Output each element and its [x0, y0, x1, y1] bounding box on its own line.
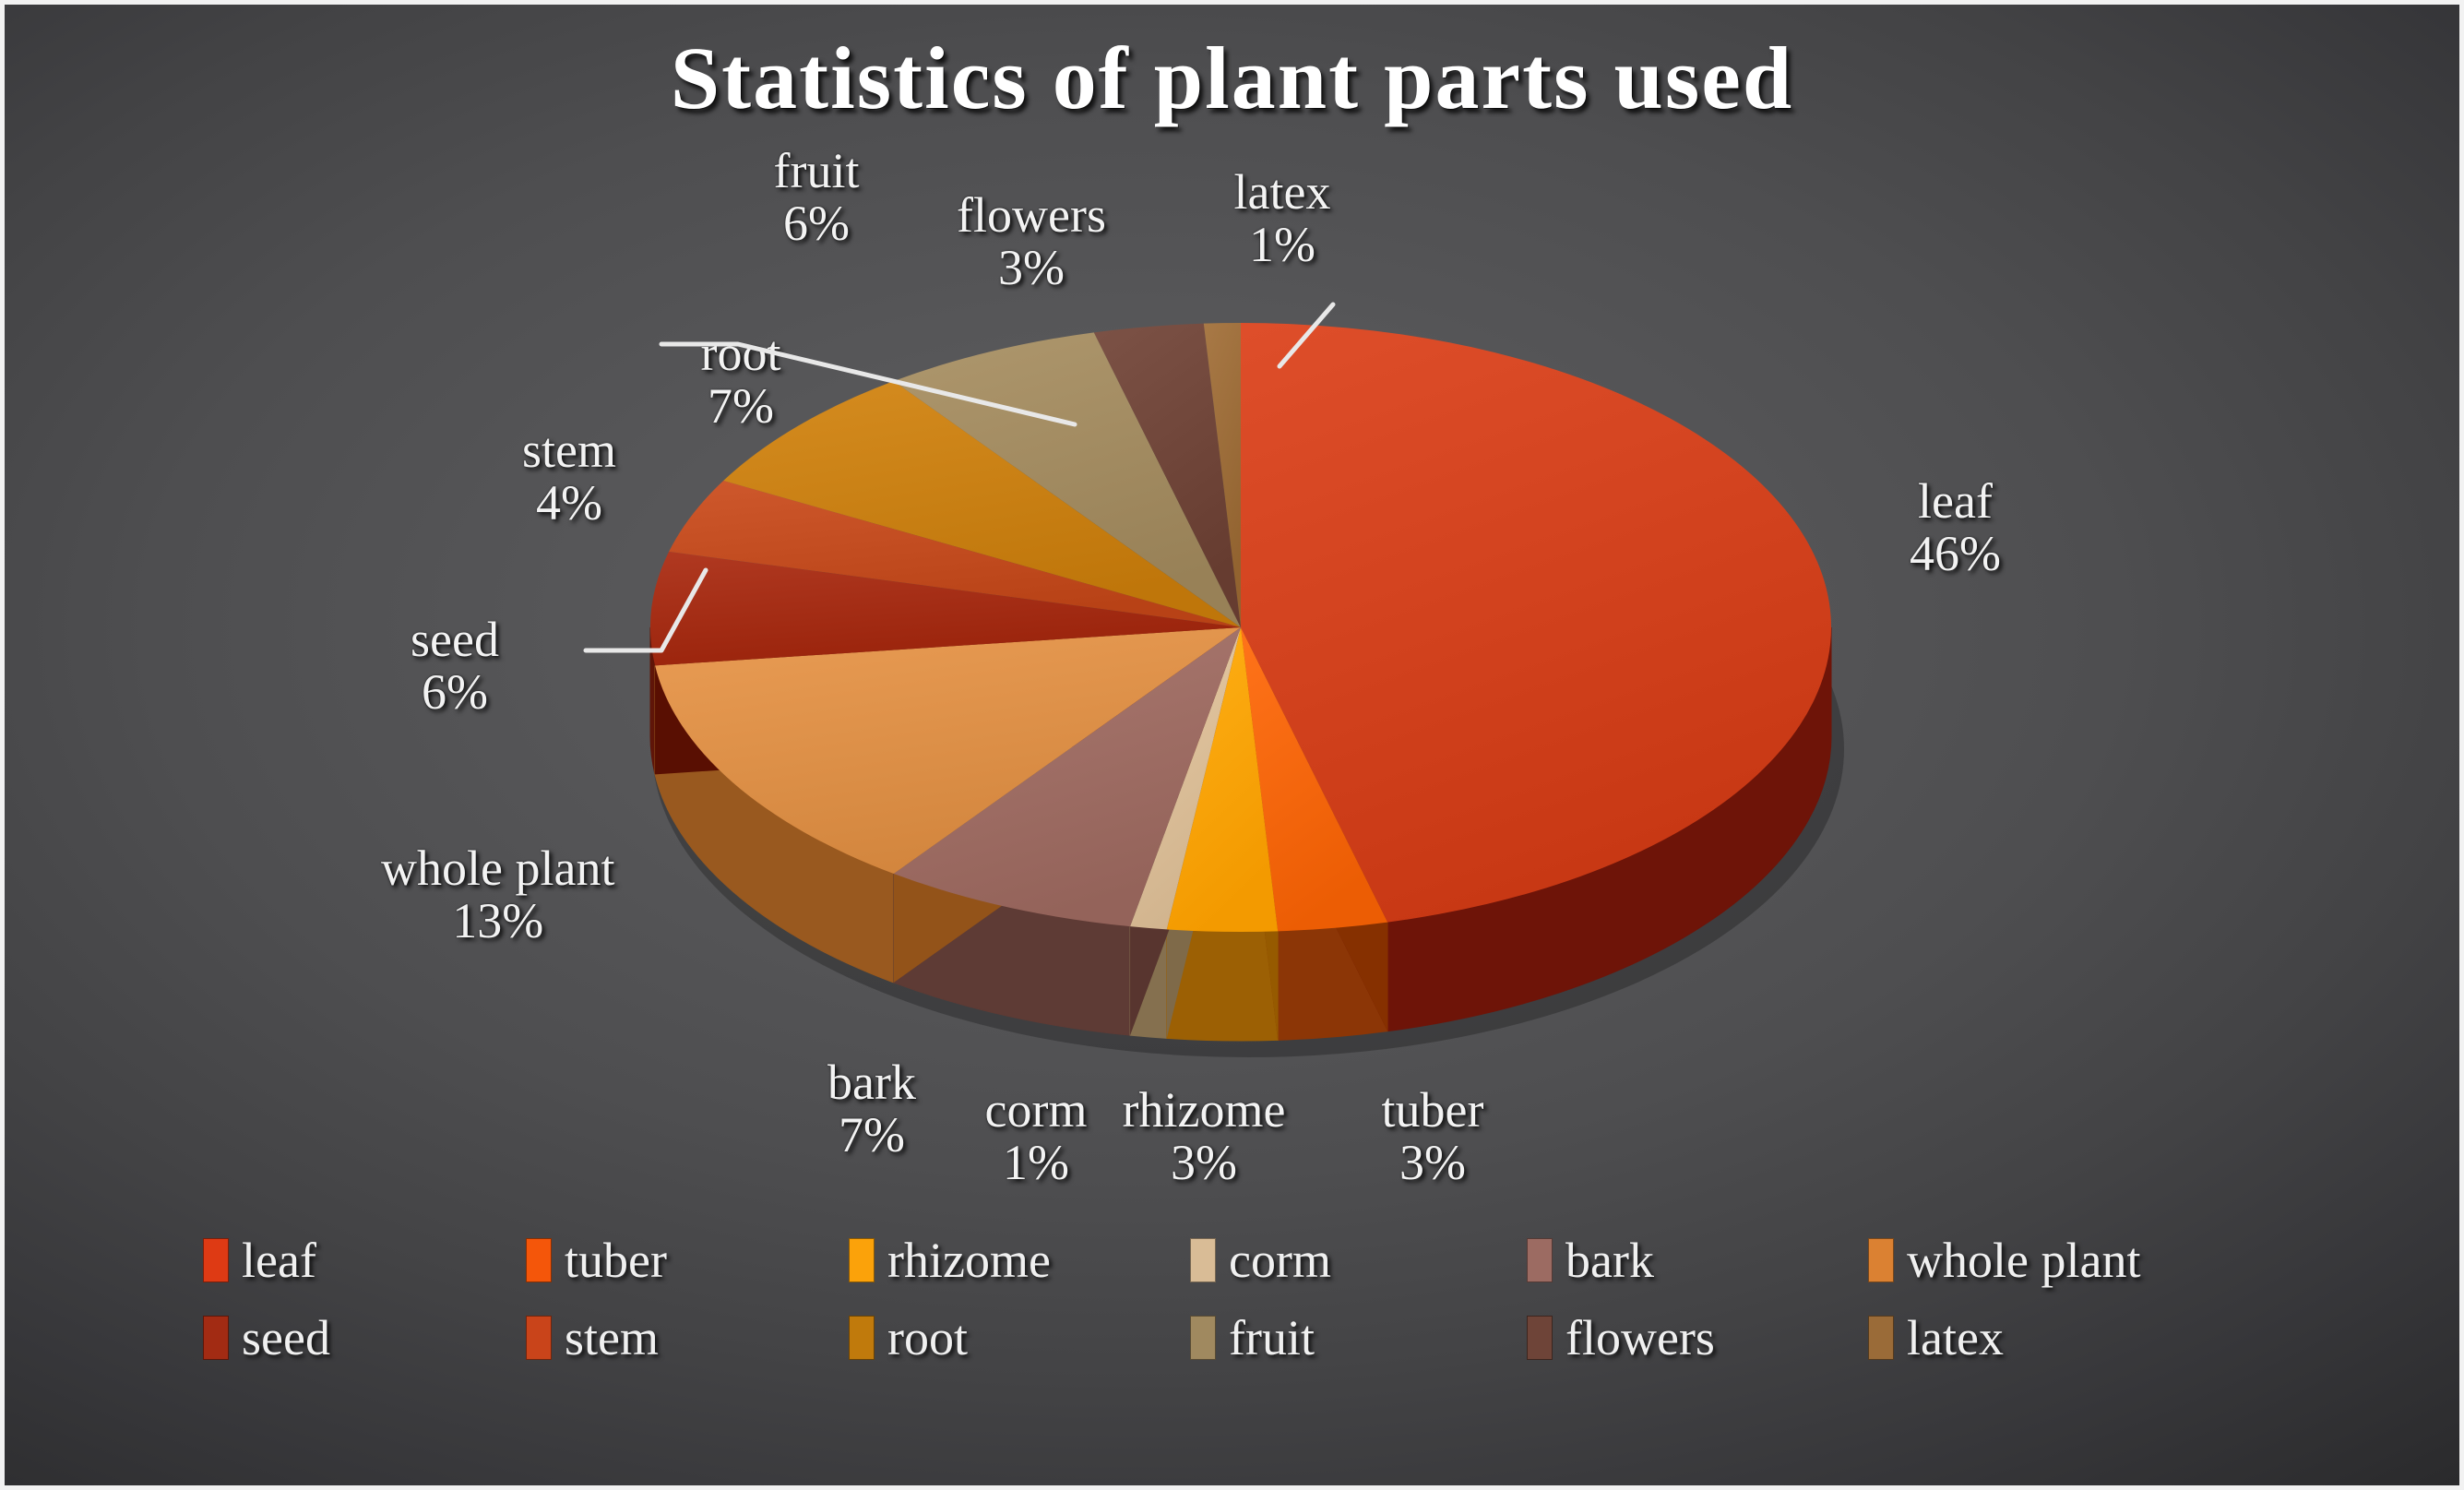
legend-swatch-icon	[1868, 1238, 1894, 1282]
legend-swatch-icon	[1868, 1316, 1894, 1360]
legend-item-whole-plant[interactable]: whole plant	[1868, 1232, 2265, 1289]
chart-title: Statistics of plant parts used	[5, 27, 2459, 129]
legend-label: fruit	[1229, 1309, 1315, 1366]
legend-label: flowers	[1565, 1309, 1715, 1366]
legend-label: corm	[1229, 1232, 1331, 1289]
slice-label-latex: latex1%	[1234, 166, 1331, 271]
legend-swatch-icon	[1527, 1316, 1553, 1360]
legend-swatch-icon	[526, 1316, 552, 1360]
legend-item-rhizome[interactable]: rhizome	[849, 1232, 1190, 1289]
slice-label-name: flowers	[957, 187, 1106, 243]
chart-container: Statistics of plant parts used leaf46%tu…	[0, 0, 2464, 1490]
legend-item-fruit[interactable]: fruit	[1190, 1309, 1527, 1366]
legend-label: rhizome	[887, 1232, 1051, 1289]
slice-label-name: seed	[411, 612, 499, 667]
slice-label-flowers: flowers3%	[957, 189, 1106, 294]
legend-label: root	[887, 1309, 968, 1366]
slice-label-name: whole plant	[381, 840, 614, 896]
legend-swatch-icon	[1527, 1238, 1553, 1282]
legend-label: latex	[1907, 1309, 2004, 1366]
slice-label-name: bark	[827, 1055, 916, 1110]
slice-label-percent: 6%	[411, 666, 499, 719]
legend-label: leaf	[242, 1232, 316, 1289]
legend-swatch-icon	[526, 1238, 552, 1282]
slice-label-percent: 3%	[1123, 1137, 1286, 1189]
legend-item-flowers[interactable]: flowers	[1527, 1309, 1868, 1366]
slice-label-percent: 46%	[1910, 528, 2001, 580]
slice-label-tuber: tuber3%	[1382, 1084, 1484, 1189]
slice-label-name: leaf	[1918, 473, 1993, 529]
slice-label-percent: 3%	[957, 242, 1106, 294]
legend-row: seedstemrootfruitflowerslatex	[203, 1309, 2279, 1366]
slice-label-whole-plant: whole plant13%	[381, 842, 614, 948]
slice-label-percent: 13%	[381, 895, 614, 948]
legend-item-root[interactable]: root	[849, 1309, 1190, 1366]
legend-item-bark[interactable]: bark	[1527, 1232, 1868, 1289]
legend-swatch-icon	[849, 1238, 875, 1282]
slice-label-percent: 1%	[1234, 219, 1331, 271]
legend-label: seed	[242, 1309, 330, 1366]
legend-swatch-icon	[1190, 1238, 1216, 1282]
legend-label: bark	[1565, 1232, 1654, 1289]
slice-label-name: rhizome	[1123, 1082, 1286, 1138]
slice-label-corm: corm1%	[985, 1084, 1088, 1189]
slice-label-bark: bark7%	[827, 1056, 916, 1162]
legend-swatch-icon	[203, 1316, 229, 1360]
legend-item-stem[interactable]: stem	[526, 1309, 849, 1366]
pie-chart-3d	[595, 309, 1905, 1010]
pie-svg	[595, 309, 1905, 1010]
legend-item-leaf[interactable]: leaf	[203, 1232, 526, 1289]
slice-label-seed: seed6%	[411, 614, 499, 719]
legend-item-tuber[interactable]: tuber	[526, 1232, 849, 1289]
legend-swatch-icon	[849, 1316, 875, 1360]
legend-label: stem	[565, 1309, 659, 1366]
legend-item-corm[interactable]: corm	[1190, 1232, 1527, 1289]
legend-item-latex[interactable]: latex	[1868, 1309, 2265, 1366]
slice-label-rhizome: rhizome3%	[1123, 1084, 1286, 1189]
slice-label-percent: 3%	[1382, 1137, 1484, 1189]
chart-legend: leaftuberrhizomecormbarkwhole plantseeds…	[203, 1232, 2279, 1387]
legend-row: leaftuberrhizomecormbarkwhole plant	[203, 1232, 2279, 1289]
slice-label-percent: 6%	[774, 197, 860, 250]
legend-swatch-icon	[203, 1238, 229, 1282]
slice-label-leaf: leaf46%	[1910, 475, 2001, 580]
slice-label-percent: 7%	[827, 1109, 916, 1162]
slice-label-name: fruit	[774, 143, 860, 198]
slice-label-fruit: fruit6%	[774, 145, 860, 250]
legend-label: whole plant	[1907, 1232, 2140, 1289]
slice-label-name: latex	[1234, 164, 1331, 220]
slice-label-name: corm	[985, 1082, 1088, 1138]
legend-swatch-icon	[1190, 1316, 1216, 1360]
legend-item-seed[interactable]: seed	[203, 1309, 526, 1366]
slice-label-percent: 1%	[985, 1137, 1088, 1189]
slice-label-name: tuber	[1382, 1082, 1484, 1138]
legend-label: tuber	[565, 1232, 667, 1289]
